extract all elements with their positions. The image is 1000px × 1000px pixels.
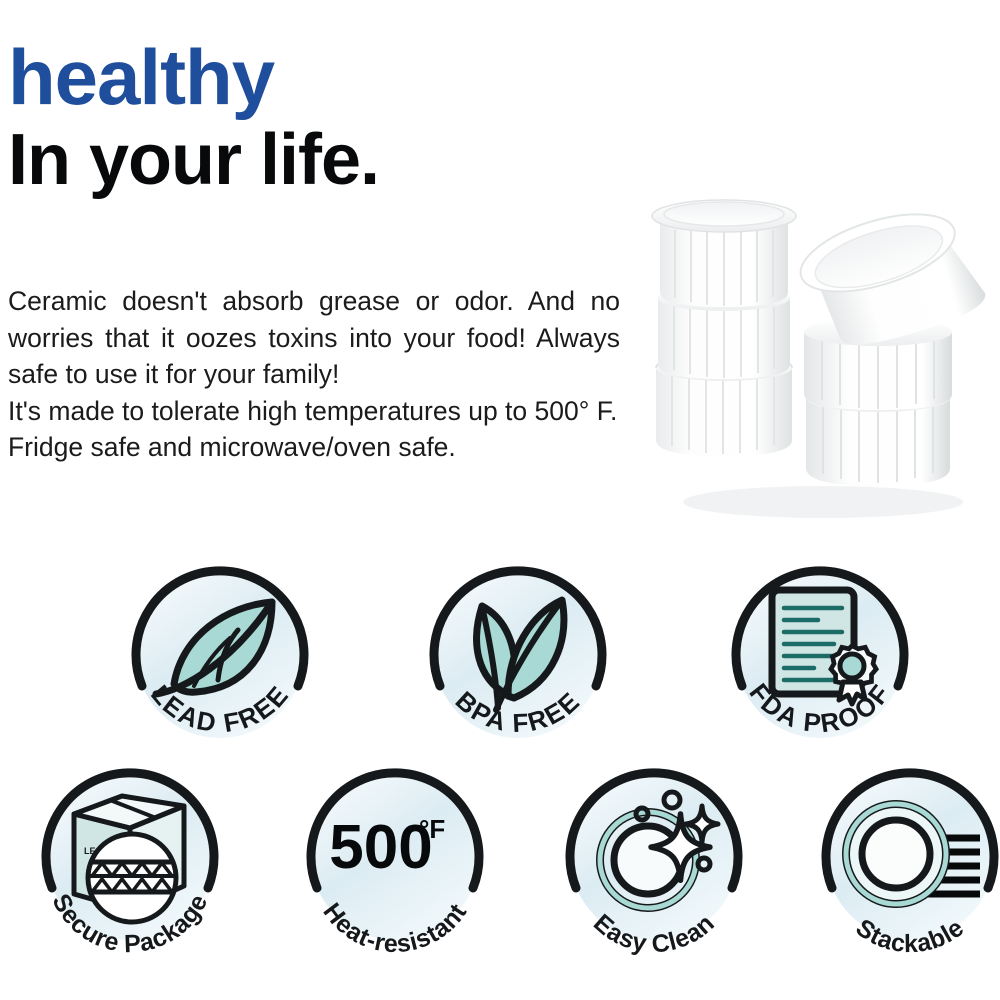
feature-badges: LEAD FREE (0, 540, 1000, 1000)
badge-fda-proof[interactable]: FDA PROOF (722, 558, 918, 758)
product-infographic: healthy In your life. Ceramic doesn't ab… (0, 0, 1000, 1000)
heat-unit: °F (419, 814, 445, 844)
badge-secure-package[interactable]: LE TALO Secure Package (32, 762, 228, 962)
product-photo-ramekins (648, 150, 992, 522)
badge-easy-clean[interactable]: Easy Clean (556, 762, 752, 962)
temperature-text-icon: 500 °F (329, 813, 445, 882)
body-paragraph-2: It's made to tolerate high temperatures … (8, 393, 620, 466)
badge-heat-resistant[interactable]: 500 °F Heat-resistant (297, 762, 493, 962)
badge-lead-free[interactable]: LEAD FREE (122, 558, 318, 758)
body-paragraph-1: Ceramic doesn't absorb grease or odor. A… (8, 283, 620, 393)
heat-value: 500 (329, 813, 432, 882)
headline-in-your-life: In your life. (8, 124, 628, 197)
ramekin-left-top (652, 200, 796, 307)
headline-block: healthy In your life. (8, 42, 628, 197)
headline-healthy: healthy (8, 42, 628, 114)
body-copy: Ceramic doesn't absorb grease or odor. A… (8, 283, 620, 466)
badge-bpa-free[interactable]: BPA FREE (420, 558, 616, 758)
badge-stackable[interactable]: Stackable (812, 762, 1000, 962)
